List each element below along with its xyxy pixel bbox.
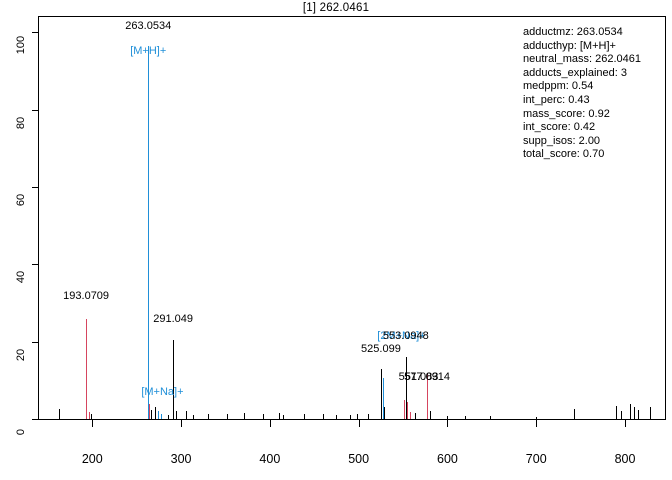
- peak-bar: [621, 411, 622, 420]
- peak-bar: [650, 407, 651, 419]
- legend-line-3: adducts_explained: 3: [523, 67, 641, 81]
- peak-bar: [208, 414, 209, 419]
- peak-label-7: 525.099: [361, 343, 401, 355]
- peak-bar: [357, 414, 358, 419]
- x-tick-label-1: 300: [171, 452, 192, 466]
- legend-line-0: adductmz: 263.0534: [523, 26, 641, 40]
- peak-bar: [155, 407, 156, 419]
- legend-line-9: total_score: 0.70: [523, 148, 641, 162]
- peak-bar: [447, 416, 448, 419]
- peak-bar: [244, 413, 245, 419]
- peak-label-3: 291.049: [153, 313, 193, 325]
- legend-line-8: supp_isos: 2.00: [523, 135, 641, 149]
- peak-bar: [161, 414, 162, 419]
- x-tick-mark: [447, 420, 448, 427]
- peak-label-4: [M+Na]+: [141, 386, 183, 398]
- peak-bar: [227, 414, 228, 419]
- peak-bar: [384, 407, 385, 419]
- y-tick-label-3: 60: [15, 185, 27, 215]
- y-tick-label-1: 20: [15, 340, 27, 370]
- legend-line-5: int_perc: 0.43: [523, 94, 641, 108]
- peak-bar: [176, 411, 177, 419]
- plot-title: [1] 262.0461: [0, 2, 672, 14]
- mass-spectrum-plot: [1] 262.0461 020406080100 20030040050060…: [0, 0, 672, 480]
- y-tick-mark: [32, 32, 38, 33]
- legend-line-2: neutral_mass: 262.0461: [523, 53, 641, 67]
- peak-bar: [350, 415, 351, 419]
- peak-bar: [168, 415, 169, 419]
- peak-bar: [283, 415, 284, 419]
- legend-line-7: int_score: 0.42: [523, 121, 641, 135]
- peak-bar: [323, 414, 324, 419]
- y-tick-mark: [32, 187, 38, 188]
- peak-bar: [148, 46, 149, 419]
- peak-bar: [415, 413, 416, 419]
- y-tick-mark: [32, 342, 38, 343]
- peak-bar: [465, 416, 466, 419]
- peak-bar: [59, 409, 60, 419]
- x-tick-label-5: 700: [526, 452, 547, 466]
- x-tick-label-4: 600: [437, 452, 458, 466]
- x-tick-mark: [270, 420, 271, 427]
- x-tick-mark: [181, 420, 182, 427]
- peak-bar: [279, 413, 280, 419]
- peak-label-9: 577.0914: [404, 371, 450, 383]
- legend-line-4: medppm: 0.54: [523, 80, 641, 94]
- y-tick-label-5: 100: [15, 30, 27, 60]
- peak-bar: [490, 416, 491, 419]
- x-tick-label-0: 200: [82, 452, 103, 466]
- y-tick-label-2: 40: [15, 262, 27, 292]
- y-tick-label-0: 0: [15, 417, 27, 447]
- peak-label-2: 193.0709: [63, 290, 109, 302]
- legend-line-1: adducthyp: [M+H]+: [523, 40, 641, 54]
- legend-line-6: mass_score: 0.92: [523, 108, 641, 122]
- peak-bar: [151, 410, 152, 419]
- x-tick-mark: [625, 420, 626, 427]
- x-tick-mark: [536, 420, 537, 427]
- x-tick-label-2: 400: [259, 452, 280, 466]
- peak-bar: [430, 411, 431, 419]
- x-tick-label-6: 800: [615, 452, 636, 466]
- peak-bar: [574, 409, 575, 419]
- x-tick-label-3: 500: [348, 452, 369, 466]
- peak-bar: [173, 340, 174, 419]
- peak-label-0: 263.0534: [125, 20, 171, 32]
- y-tick-mark: [32, 419, 38, 420]
- peak-label-6: 553.0948: [383, 330, 429, 342]
- peak-bar: [91, 414, 92, 419]
- peak-bar: [630, 404, 631, 419]
- peak-bar: [304, 414, 305, 419]
- peak-bar: [86, 319, 87, 420]
- peak-bar: [634, 407, 635, 419]
- peak-bar: [368, 414, 369, 419]
- peak-bar: [263, 414, 264, 419]
- y-tick-mark: [32, 264, 38, 265]
- y-tick-mark: [32, 110, 38, 111]
- peak-bar: [638, 410, 639, 419]
- peak-bar: [158, 411, 159, 420]
- peak-bar: [407, 402, 408, 419]
- y-tick-label-4: 80: [15, 108, 27, 138]
- peak-bar: [410, 412, 411, 419]
- peak-bar: [616, 406, 617, 419]
- x-tick-mark: [359, 420, 360, 427]
- score-legend: adductmz: 263.0534adducthyp: [M+H]+neutr…: [523, 26, 641, 162]
- peak-bar: [336, 415, 337, 419]
- peak-bar: [536, 417, 537, 419]
- x-tick-mark: [92, 420, 93, 427]
- peak-bar: [89, 412, 90, 419]
- peak-label-1: [M+H]+: [130, 45, 166, 57]
- peak-bar: [193, 415, 194, 419]
- peak-bar: [186, 411, 187, 420]
